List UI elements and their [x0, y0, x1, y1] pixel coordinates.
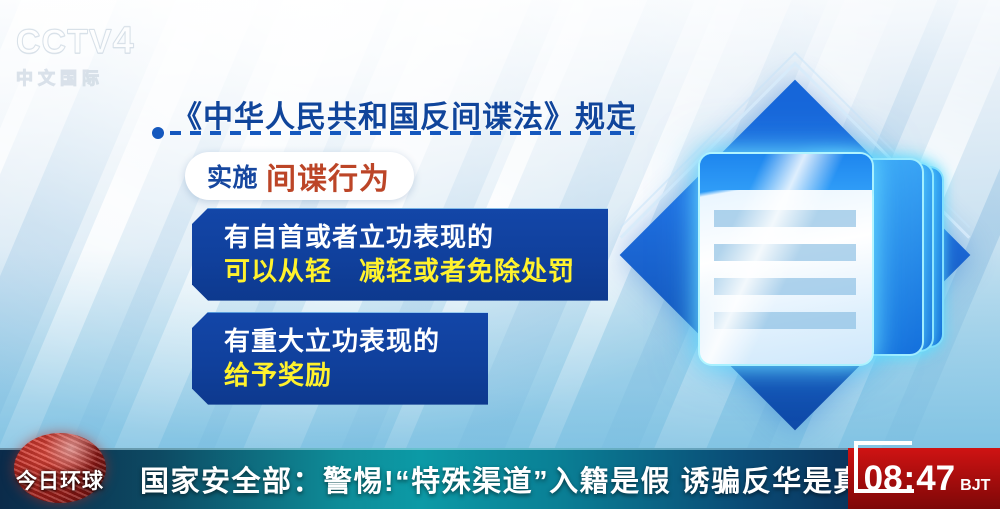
channel-subtitle: 中文国际 [16, 64, 166, 89]
provision-line-highlight: 可以从轻 减轻或者免除处罚 [224, 254, 586, 288]
page-text-line [714, 244, 856, 261]
page-text-line [714, 312, 856, 329]
badge-emphasis: 间谍行为 [266, 154, 390, 198]
page-text-line [714, 210, 856, 227]
channel-logo-wordmark: CCTV4 [16, 22, 166, 60]
program-name: 今日环球 [6, 465, 114, 495]
cctv4-channel-logo: CCTV4 中文国际 [16, 22, 166, 84]
clock-inner: 08 : 47 BJT [858, 461, 991, 496]
divider-dot [152, 127, 164, 139]
broadcast-screen: CCTV4 中文国际 《中华人民共和国反间谍法》规定 实施 间谍行为 有自首或者… [0, 0, 1000, 509]
divider-dashes [170, 131, 634, 135]
news-headline: 国家安全部：警惕!“特殊渠道”入籍是假 诱骗反华是真 [140, 448, 864, 509]
clock-minutes: 47 [916, 461, 955, 496]
dashed-divider [152, 127, 634, 139]
page-text-line [714, 278, 856, 295]
page-header-bar [700, 154, 872, 190]
lower-third-bar: 今日环球 国家安全部：警惕!“特殊渠道”入籍是假 诱骗反华是真 08 : 47 … [0, 448, 1000, 509]
channel-number: 4 [113, 20, 135, 62]
provision-line-primary: 有自首或者立功表现的 [224, 220, 586, 254]
document-stack-icon [612, 72, 978, 438]
page-front [698, 152, 874, 366]
clock-timezone: BJT [960, 477, 990, 495]
provision-line-primary: 有重大立功表现的 [224, 324, 466, 358]
status-badge: 实施 间谍行为 [185, 152, 414, 200]
badge-prefix: 实施 [207, 158, 258, 194]
provision-box: 有自首或者立功表现的 可以从轻 减轻或者免除处罚 [192, 208, 608, 301]
provision-box: 有重大立功表现的 给予奖励 [192, 312, 488, 405]
channel-logo-text: CCTV [16, 23, 113, 61]
clock-widget: 08 : 47 BJT [848, 448, 1000, 509]
program-logo: 今日环球 [6, 433, 114, 507]
clock-separator: : [904, 461, 916, 496]
clock-hours: 08 [864, 461, 903, 496]
provision-line-highlight: 给予奖励 [224, 358, 466, 392]
